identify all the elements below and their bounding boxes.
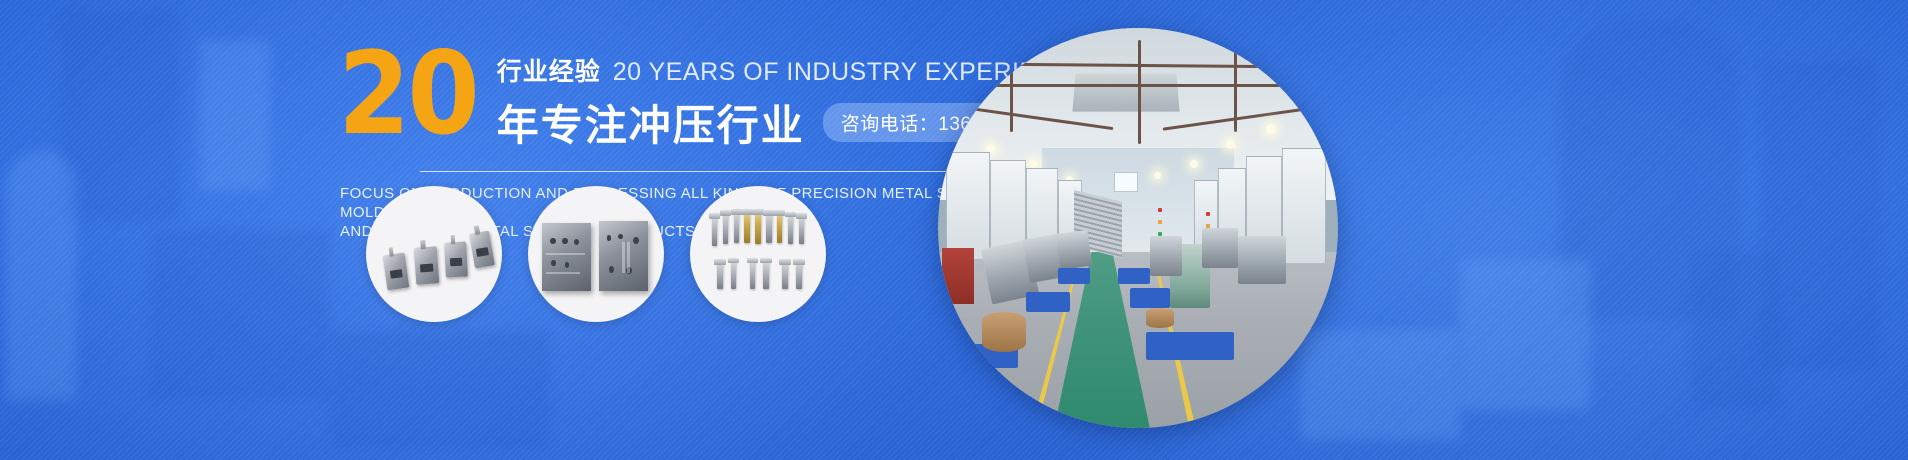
years-number: 20 bbox=[338, 46, 477, 141]
promo-banner: 20 行业经验 20 YEARS OF INDUSTRY EXPERIENCE … bbox=[0, 0, 1908, 460]
usb-connectors-photo bbox=[366, 186, 502, 322]
cn-experience-label: 行业经验 bbox=[497, 52, 601, 88]
factory-workshop-photo bbox=[938, 28, 1338, 428]
product-circle-row bbox=[366, 186, 826, 322]
stamping-mold-photo bbox=[528, 186, 664, 322]
cn-focus-label: 年专注冲压行业 bbox=[497, 92, 805, 153]
terminal-pins-photo bbox=[690, 186, 826, 322]
